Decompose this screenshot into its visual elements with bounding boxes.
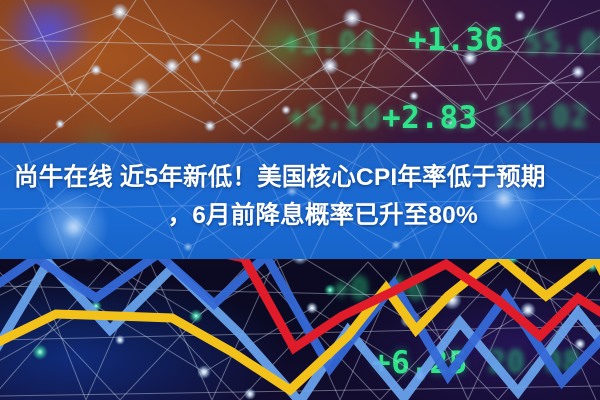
headline-band: 尚牛在线 近5年新低！美国核心CPI年率低于预期 ，6月前降息概率已升至80% — [0, 143, 600, 259]
page-title: 尚牛在线 近5年新低！美国核心CPI年率低于预期 ，6月前降息概率已升至80% — [0, 143, 600, 259]
headline-line-2: ，6月前降息概率已升至80% — [14, 197, 584, 235]
headline-line-1: 尚牛在线 近5年新低！美国核心CPI年率低于预期 — [14, 159, 584, 197]
news-thumbnail-image: +3.04 +1.36 55.08 +5.10 +2.83 53.02 37.3… — [0, 0, 600, 400]
